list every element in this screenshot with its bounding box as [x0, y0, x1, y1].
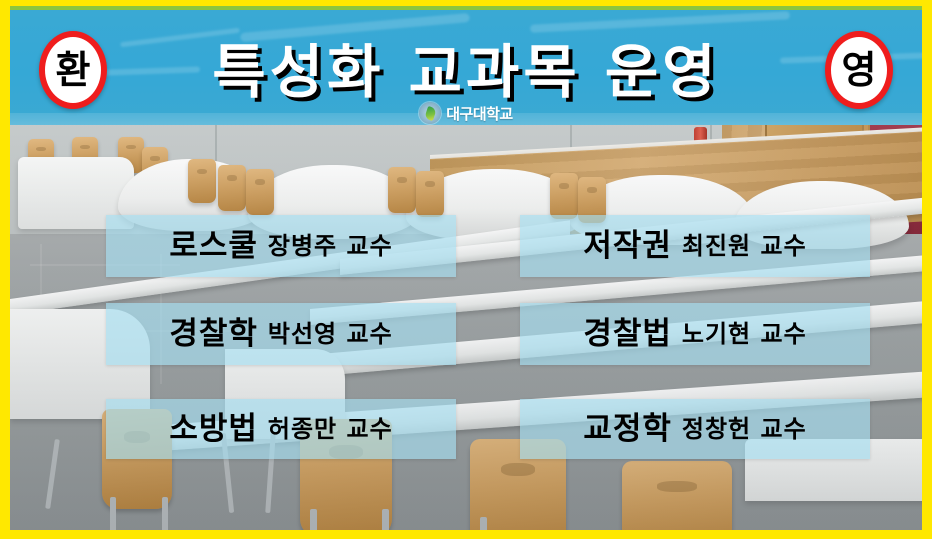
chair [622, 461, 732, 530]
university-watermark: 대구대학교 [10, 102, 922, 124]
chair [188, 159, 216, 203]
page-title: 특성화 교과목 운영 [10, 25, 922, 109]
course-label-police-law: 경찰법 노기현 교수 [520, 303, 870, 365]
course-professor: 최진원 교수 [682, 234, 807, 258]
course-professor: 박선영 교수 [268, 322, 393, 346]
course-subject: 소방법 [169, 414, 258, 445]
chair [416, 171, 444, 217]
course-label-copyright: 저작권 최진원 교수 [520, 215, 870, 277]
course-label-roschool: 로스쿨 장병주 교수 [106, 215, 456, 277]
chair-leg [162, 497, 168, 530]
chair-leg [110, 497, 116, 530]
course-label-fire-law: 소방법 허종만 교수 [106, 399, 456, 459]
badge-right-label: 영 [842, 51, 877, 89]
badge-left-label: 환 [56, 51, 91, 89]
course-professor: 노기현 교수 [682, 322, 807, 346]
course-professor: 정창헌 교수 [682, 417, 807, 441]
chair [388, 167, 416, 213]
chair-leg [480, 517, 487, 530]
course-subject: 경찰학 [169, 319, 258, 350]
poster-root: 특성화 교과목 운영 환 영 대구대학교 로스쿨 장병주 교수 저작권 최진원 … [0, 0, 932, 539]
course-subject: 저작권 [583, 231, 672, 262]
course-label-corrections: 교정학 정창헌 교수 [520, 399, 870, 459]
university-name: 대구대학교 [446, 103, 513, 124]
chair [246, 169, 274, 215]
chair [218, 165, 246, 211]
course-professor: 허종만 교수 [268, 417, 393, 441]
badge-right: 영 [825, 31, 893, 109]
frame-accent-line [10, 6, 922, 10]
poster-inner-frame: 특성화 교과목 운영 환 영 대구대학교 로스쿨 장병주 교수 저작권 최진원 … [10, 9, 922, 530]
course-label-police-studies: 경찰학 박선영 교수 [106, 303, 456, 365]
course-subject: 로스쿨 [169, 231, 258, 262]
chair-leg [382, 509, 389, 530]
chair [550, 173, 578, 219]
course-subject: 교정학 [583, 414, 672, 445]
course-subject: 경찰법 [583, 319, 672, 350]
badge-left: 환 [39, 31, 107, 109]
course-professor: 장병주 교수 [268, 234, 393, 258]
daegu-university-emblem-icon [419, 102, 441, 124]
chair-leg [310, 509, 317, 530]
